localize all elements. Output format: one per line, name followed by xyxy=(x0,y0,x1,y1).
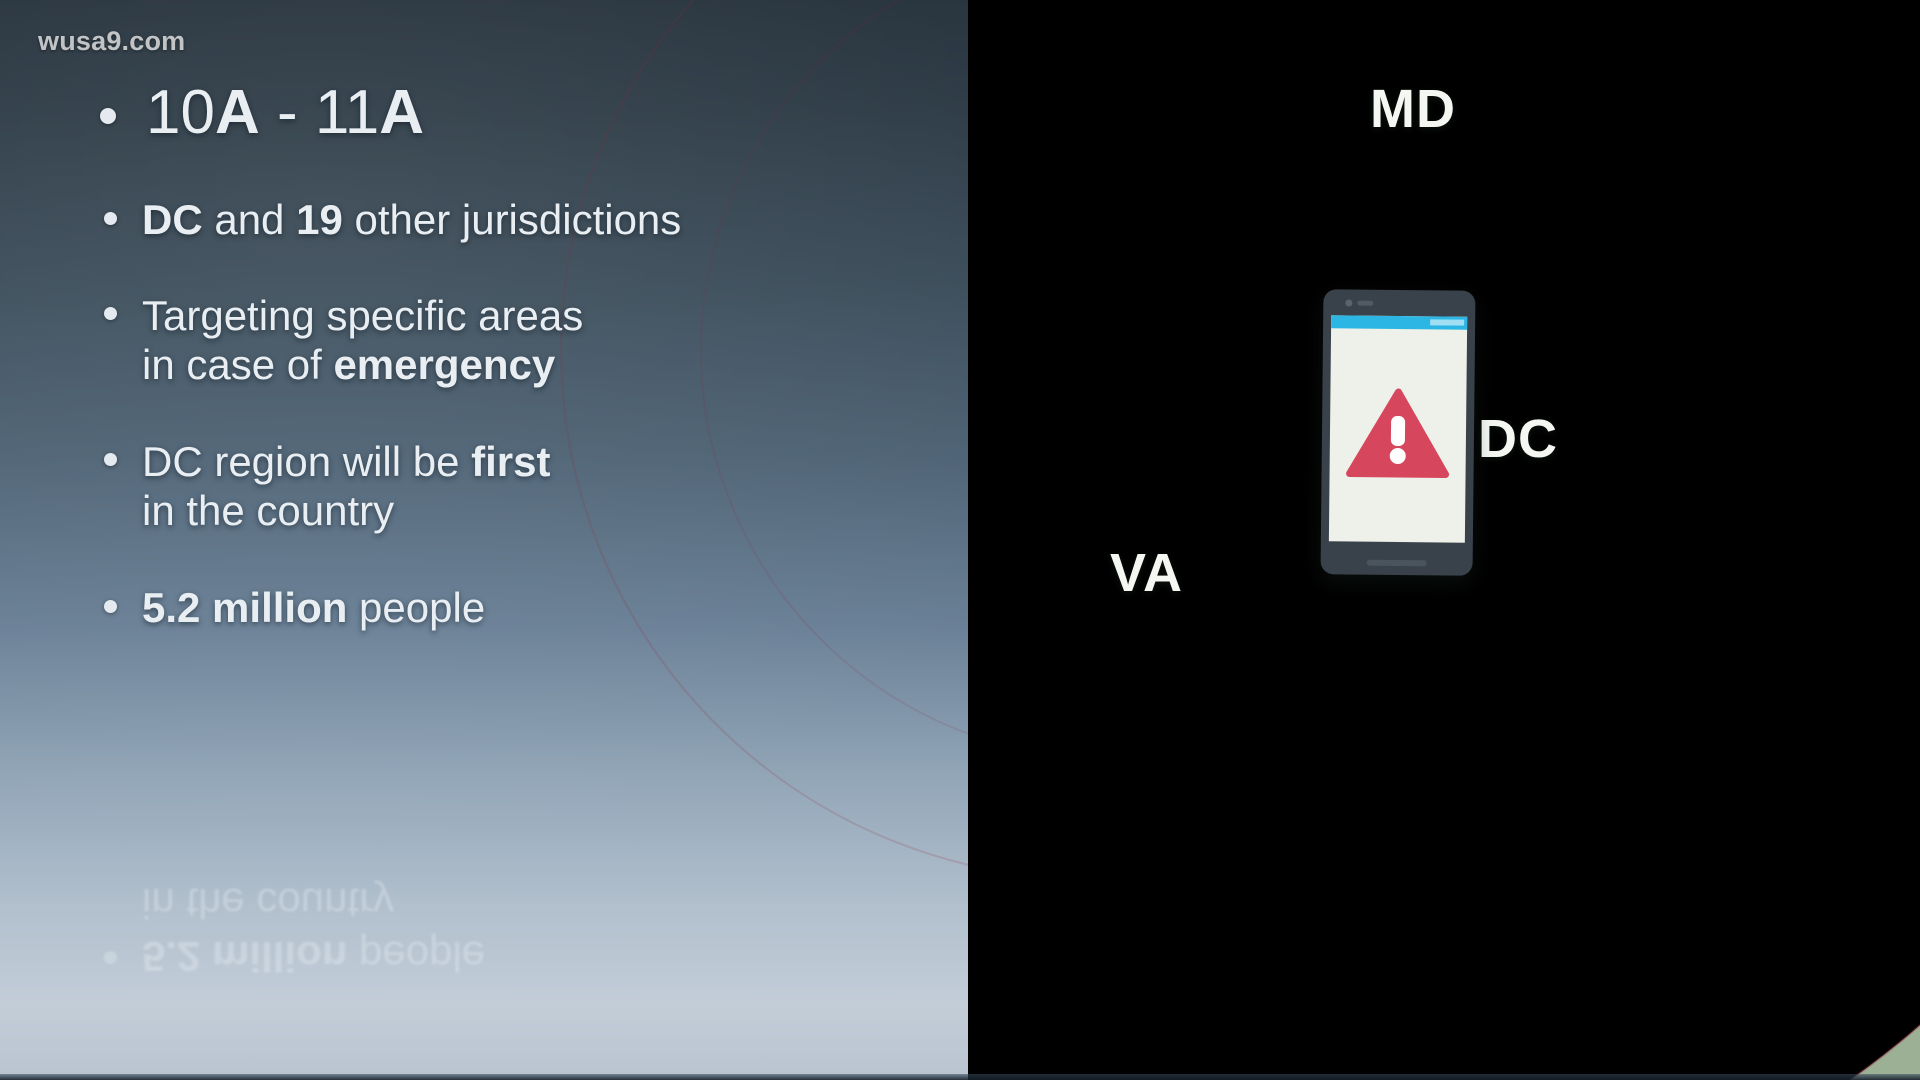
bullet-plain-text: people xyxy=(347,584,485,631)
bullet-line: in the country xyxy=(142,486,896,535)
bullet-item-jurisdictions: DC and 19 other jurisdictions xyxy=(96,196,896,243)
bullet-line: DC region will be first xyxy=(142,437,896,486)
bullet-emphasis-text: emergency xyxy=(333,341,555,388)
bullet-dot-icon xyxy=(104,951,117,964)
bullet-emphasis-text: A xyxy=(379,78,424,147)
bullet-emphasis-text: A xyxy=(215,78,260,147)
bullet-dot-icon xyxy=(100,108,116,124)
bullet-dot-icon xyxy=(104,453,117,466)
bullet-emphasis-text: 19 xyxy=(296,196,343,243)
bullet-plain-text: Targeting specific areas xyxy=(142,292,583,339)
smartphone-illustration xyxy=(1321,289,1476,576)
reflection-line-population: 5.2 million people xyxy=(96,933,896,980)
map-label-district: DC xyxy=(1478,408,1558,470)
phone-home-button xyxy=(1367,560,1427,567)
bullet-plain-text: other jurisdictions xyxy=(343,196,681,243)
phone-camera-icon xyxy=(1345,299,1352,306)
bullet-dot-icon xyxy=(104,307,117,320)
phone-status-indicators xyxy=(1430,319,1464,325)
bullet-text: 10A - 11A xyxy=(146,82,896,144)
phone-speaker-icon xyxy=(1357,301,1373,306)
bullet-emphasis-text: first xyxy=(471,438,550,485)
bullet-plain-text: 10 xyxy=(146,78,215,147)
reflection-line-country: in the country xyxy=(96,880,896,927)
broadcast-graphic: wusa9.com 10A - 11A DC and 19 other juri… xyxy=(0,0,1920,1080)
bullet-text: 5.2 million people xyxy=(142,584,896,631)
bullet-item-population: 5.2 million people xyxy=(96,584,896,631)
bullet-dot-icon xyxy=(104,212,117,225)
bullet-item-time: 10A - 11A xyxy=(96,82,896,144)
warning-triangle-icon xyxy=(1346,387,1451,480)
phone-status-bar xyxy=(1331,315,1467,329)
bullet-emphasis-text: 5.2 million xyxy=(142,584,347,631)
bullet-list: 10A - 11A DC and 19 other jurisdictions … xyxy=(96,82,896,631)
bottom-bar xyxy=(0,1074,1920,1080)
bullet-item-targeting: Targeting specific areasin case of emerg… xyxy=(96,291,896,389)
bullet-text: DC and 19 other jurisdictions xyxy=(142,196,896,243)
map-label-virginia: VA xyxy=(1110,542,1183,604)
bullet-plain-text: 11 xyxy=(315,78,379,147)
bullet-item-first-in-country: DC region will be firstin the country xyxy=(96,437,896,535)
bullet-dot-icon xyxy=(104,600,117,613)
bullet-line: in case of emergency xyxy=(142,340,896,389)
bullet-line: Targeting specific areas xyxy=(142,291,896,340)
bullet-plain-text: - xyxy=(260,78,315,147)
phone-screen xyxy=(1329,315,1467,542)
reflection-bold-text: 5.2 million xyxy=(142,933,347,980)
bullet-plain-text: in the country xyxy=(142,487,394,534)
info-panel: wusa9.com 10A - 11A DC and 19 other juri… xyxy=(0,0,968,1080)
bullet-plain-text: DC region will be xyxy=(142,438,471,485)
reflection-text: in the country xyxy=(142,880,394,927)
map-label-maryland: MD xyxy=(1370,78,1456,140)
bullet-text: DC region will be firstin the country xyxy=(142,437,896,535)
bullet-plain-text: and xyxy=(203,196,296,243)
station-watermark: wusa9.com xyxy=(38,26,185,57)
bullet-reflection: 5.2 million people in the country xyxy=(96,880,896,980)
bullet-emphasis-text: DC xyxy=(142,196,203,243)
bullet-plain-text: in case of xyxy=(142,341,333,388)
map-panel: MD DC VA xyxy=(968,0,1920,1080)
bullet-text: Targeting specific areasin case of emerg… xyxy=(142,291,896,389)
reflection-rest-text: people xyxy=(347,933,485,980)
